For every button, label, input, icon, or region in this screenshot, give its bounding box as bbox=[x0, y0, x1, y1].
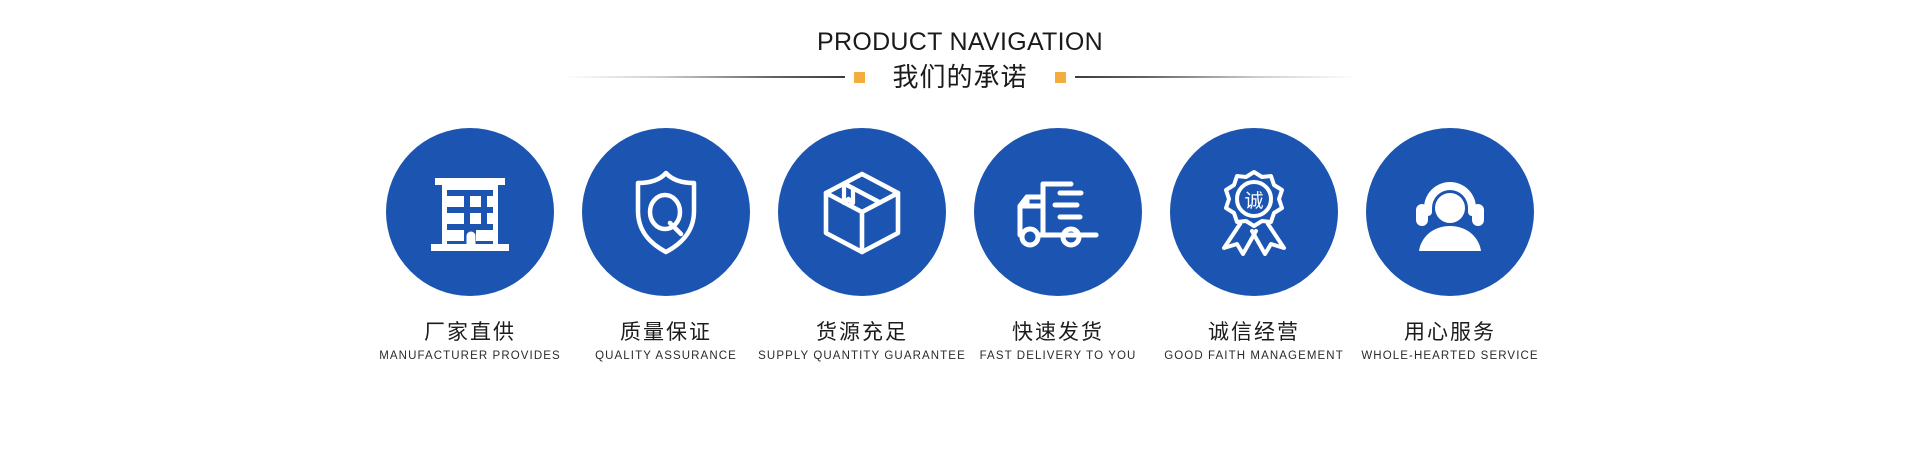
feature-label-en: QUALITY ASSURANCE bbox=[595, 351, 737, 363]
feature-label-cn: 诚信经营 bbox=[1208, 322, 1300, 343]
feature-item-supply[interactable]: 货源充足 SUPPLY QUANTITY GUARANTEE bbox=[778, 128, 946, 363]
feature-item-delivery[interactable]: 快速发货 FAST DELIVERY TO YOU bbox=[974, 128, 1142, 363]
divider-line-right bbox=[1075, 76, 1357, 78]
feature-label-en: GOOD FAITH MANAGEMENT bbox=[1164, 351, 1344, 363]
page-title-english: PRODUCT NAVIGATION bbox=[0, 30, 1920, 55]
feature-label-en: WHOLE-HEARTED SERVICE bbox=[1361, 351, 1538, 363]
medal-badge-text: 诚 bbox=[1244, 190, 1263, 212]
feature-label-cn: 快速发货 bbox=[1012, 322, 1104, 343]
delivery-truck-icon bbox=[1008, 167, 1108, 257]
building-icon bbox=[422, 164, 518, 260]
feature-label-cn: 用心服务 bbox=[1404, 322, 1496, 343]
feature-label-en: MANUFACTURER PROVIDES bbox=[379, 351, 561, 363]
icon-circle[interactable] bbox=[1366, 128, 1534, 296]
section-header: PRODUCT NAVIGATION 我们的承诺 bbox=[0, 0, 1920, 110]
feature-item-integrity[interactable]: 诚 诚信经营 GOOD FAITH MANAGEMENT bbox=[1170, 128, 1338, 363]
feature-item-service[interactable]: 用心服务 WHOLE-HEARTED SERVICE bbox=[1366, 128, 1534, 363]
shield-q-icon bbox=[618, 164, 714, 260]
icon-circle[interactable] bbox=[582, 128, 750, 296]
feature-item-manufacturer[interactable]: 厂家直供 MANUFACTURER PROVIDES bbox=[386, 128, 554, 363]
page-title-chinese: 我们的承诺 bbox=[874, 64, 1045, 90]
icon-circle[interactable] bbox=[386, 128, 554, 296]
icon-circle[interactable] bbox=[778, 128, 946, 296]
feature-label-cn: 厂家直供 bbox=[424, 322, 516, 343]
feature-label-cn: 货源充足 bbox=[816, 322, 908, 343]
feature-label-cn: 质量保证 bbox=[620, 322, 712, 343]
feature-item-list: 厂家直供 MANUFACTURER PROVIDES 质量保证 QUALITY … bbox=[0, 128, 1920, 363]
feature-item-quality[interactable]: 质量保证 QUALITY ASSURANCE bbox=[582, 128, 750, 363]
accent-square-left bbox=[854, 72, 865, 83]
divider-line-left bbox=[563, 76, 845, 78]
page-subtitle-row: 我们的承诺 bbox=[0, 64, 1920, 90]
icon-circle[interactable]: 诚 bbox=[1170, 128, 1338, 296]
headset-support-icon bbox=[1402, 164, 1498, 260]
accent-square-right bbox=[1055, 72, 1066, 83]
icon-circle[interactable] bbox=[974, 128, 1142, 296]
medal-ribbon-icon: 诚 bbox=[1206, 164, 1302, 260]
feature-label-en: SUPPLY QUANTITY GUARANTEE bbox=[758, 351, 966, 363]
feature-label-en: FAST DELIVERY TO YOU bbox=[980, 351, 1137, 363]
package-box-icon bbox=[813, 163, 911, 261]
